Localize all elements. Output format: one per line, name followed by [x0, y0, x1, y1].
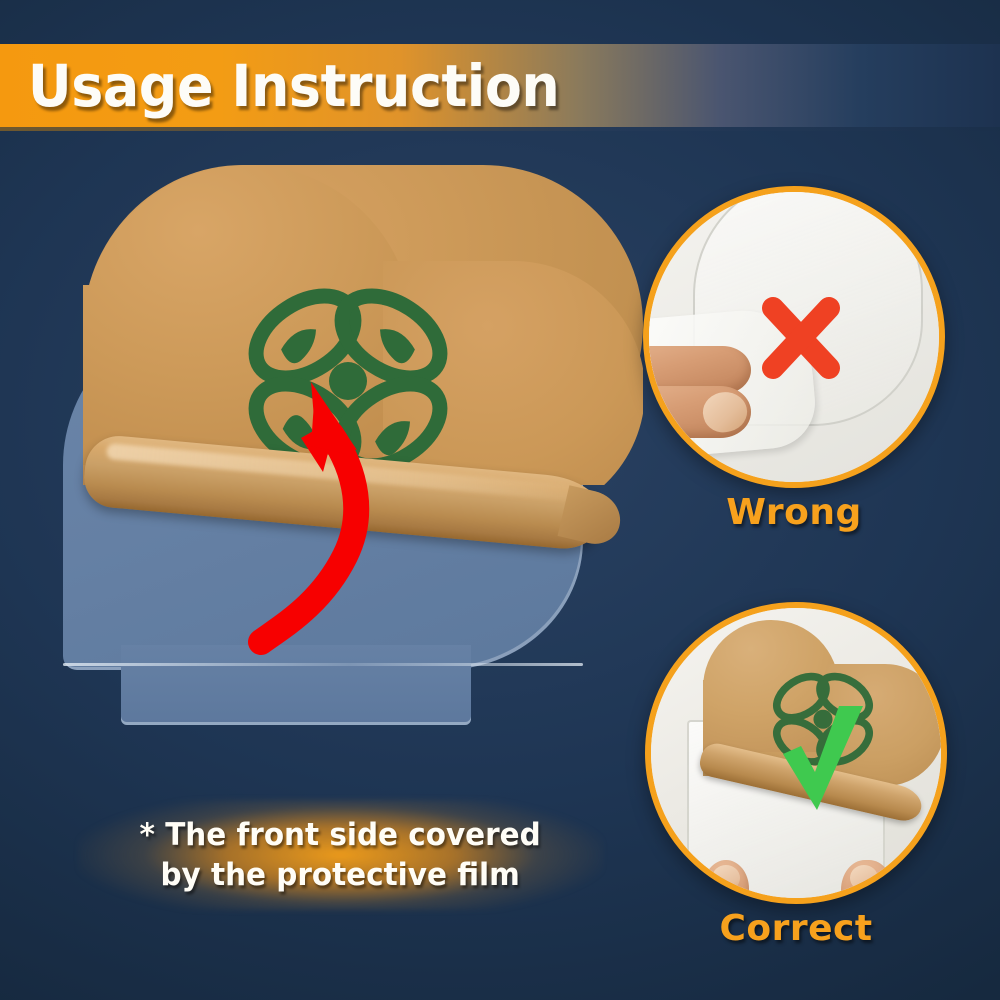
acrylic-edge-highlight	[63, 663, 583, 666]
red-x-icon	[759, 296, 843, 380]
caption-block: * The front side covered by the protecti…	[78, 800, 603, 910]
panel-correct: Correct	[645, 602, 947, 904]
acrylic-stand-tab	[121, 645, 471, 725]
panel-wrong: Wrong	[643, 186, 945, 488]
caption-text: * The front side covered by the protecti…	[140, 815, 541, 895]
thumbnail	[850, 865, 878, 891]
main-product-illustration	[55, 165, 655, 760]
thumb	[841, 860, 893, 904]
thumb	[703, 860, 749, 904]
thumbnail	[712, 865, 740, 891]
panel-label-correct: Correct	[645, 908, 947, 949]
usage-instruction-page: Usage Instruction	[0, 0, 1000, 1000]
red-peel-arrow-icon	[253, 380, 423, 650]
wrong-photo-circle	[643, 186, 945, 488]
kraft-roll-tip	[558, 485, 626, 549]
page-title: Usage Instruction	[0, 57, 559, 115]
green-check-icon	[777, 702, 869, 818]
hands-holding-plaque	[703, 860, 913, 904]
header-banner: Usage Instruction	[0, 44, 1000, 127]
panel-label-wrong: Wrong	[643, 492, 945, 533]
correct-photo-circle	[645, 602, 947, 904]
